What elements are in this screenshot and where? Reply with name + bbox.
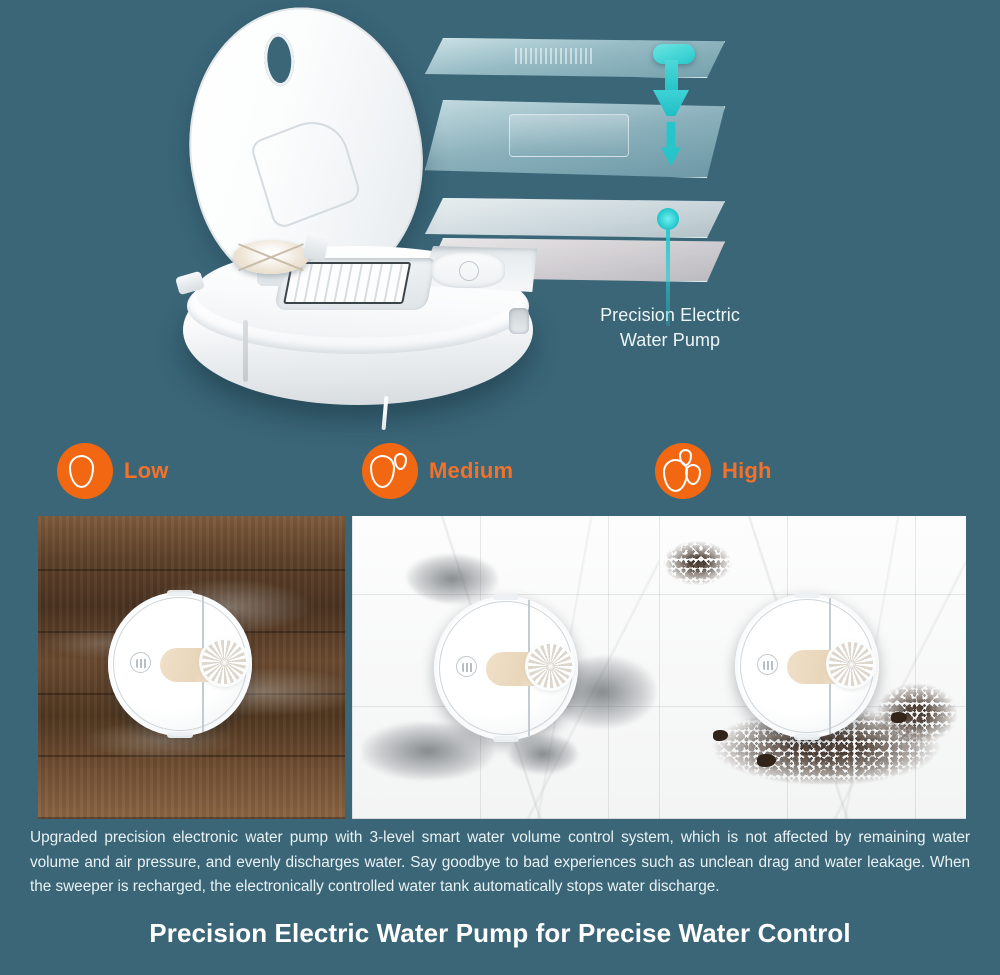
robot-tab-top xyxy=(794,592,820,598)
power-button-icon xyxy=(456,656,477,677)
power-button-icon xyxy=(757,654,778,675)
level-label-high: High xyxy=(722,458,772,484)
tank-lid-ribs xyxy=(515,48,593,64)
robot-topdown-medium xyxy=(434,596,578,740)
demo-panel-low xyxy=(38,516,345,819)
water-drop-low-icon xyxy=(57,443,113,499)
water-drop-medium-icon xyxy=(362,443,418,499)
callout-leader-line xyxy=(666,230,670,326)
pump-callout-line-2: Water Pump xyxy=(540,328,800,353)
demo-panel-medium xyxy=(352,516,659,819)
control-emblem xyxy=(431,252,505,288)
droplet-shape xyxy=(69,455,94,488)
hero-section: Precision Electric Water Pump xyxy=(0,0,1000,440)
droplet-shape-small xyxy=(394,453,407,470)
pump-callout-line-1: Precision Electric xyxy=(540,303,800,328)
water-outlet-dot xyxy=(657,208,679,230)
lid-emboss xyxy=(249,110,362,231)
robot-tab-top xyxy=(493,594,519,600)
reservoir-detail xyxy=(509,114,629,157)
lid-handle-hole xyxy=(262,31,296,88)
side-brush-icon xyxy=(829,642,873,686)
bumper-seam xyxy=(243,320,248,382)
level-label-medium: Medium xyxy=(429,458,513,484)
power-button-icon xyxy=(130,652,151,673)
water-level-legend: Low Medium High xyxy=(0,443,1000,513)
level-label-low: Low xyxy=(124,458,169,484)
robot-topdown-low xyxy=(108,592,252,736)
description-paragraph: Upgraded precision electronic water pump… xyxy=(30,826,970,900)
pump-callout-label: Precision Electric Water Pump xyxy=(540,303,800,353)
side-brush xyxy=(233,240,309,274)
robot-tab-top xyxy=(167,590,193,596)
side-brush-icon xyxy=(528,644,572,688)
droplet-shape xyxy=(370,455,395,488)
infographic-page: Precision Electric Water Pump Low Medium xyxy=(0,0,1000,975)
demo-panel-high xyxy=(659,516,966,819)
dirt-debris-patch xyxy=(659,532,755,594)
tank-layer-plate xyxy=(425,198,725,238)
demo-photo-row xyxy=(0,516,1000,819)
robot-tab-bottom xyxy=(794,734,820,740)
droplet-shape-small-side xyxy=(685,464,701,485)
water-drop-high-icon xyxy=(655,443,711,499)
level-item-low[interactable]: Low xyxy=(57,443,169,499)
tank-layer-reservoir xyxy=(425,100,725,178)
footer-headline: Precision Electric Water Pump for Precis… xyxy=(0,918,1000,949)
level-item-high[interactable]: High xyxy=(655,443,772,499)
side-vent xyxy=(509,308,529,334)
electric-pump-stem xyxy=(665,60,678,94)
robot-tab-bottom xyxy=(493,736,519,742)
level-item-medium[interactable]: Medium xyxy=(362,443,513,499)
side-brush-icon xyxy=(202,640,246,684)
robot-topdown-high xyxy=(735,594,879,738)
robot-tab-bottom xyxy=(167,732,193,738)
